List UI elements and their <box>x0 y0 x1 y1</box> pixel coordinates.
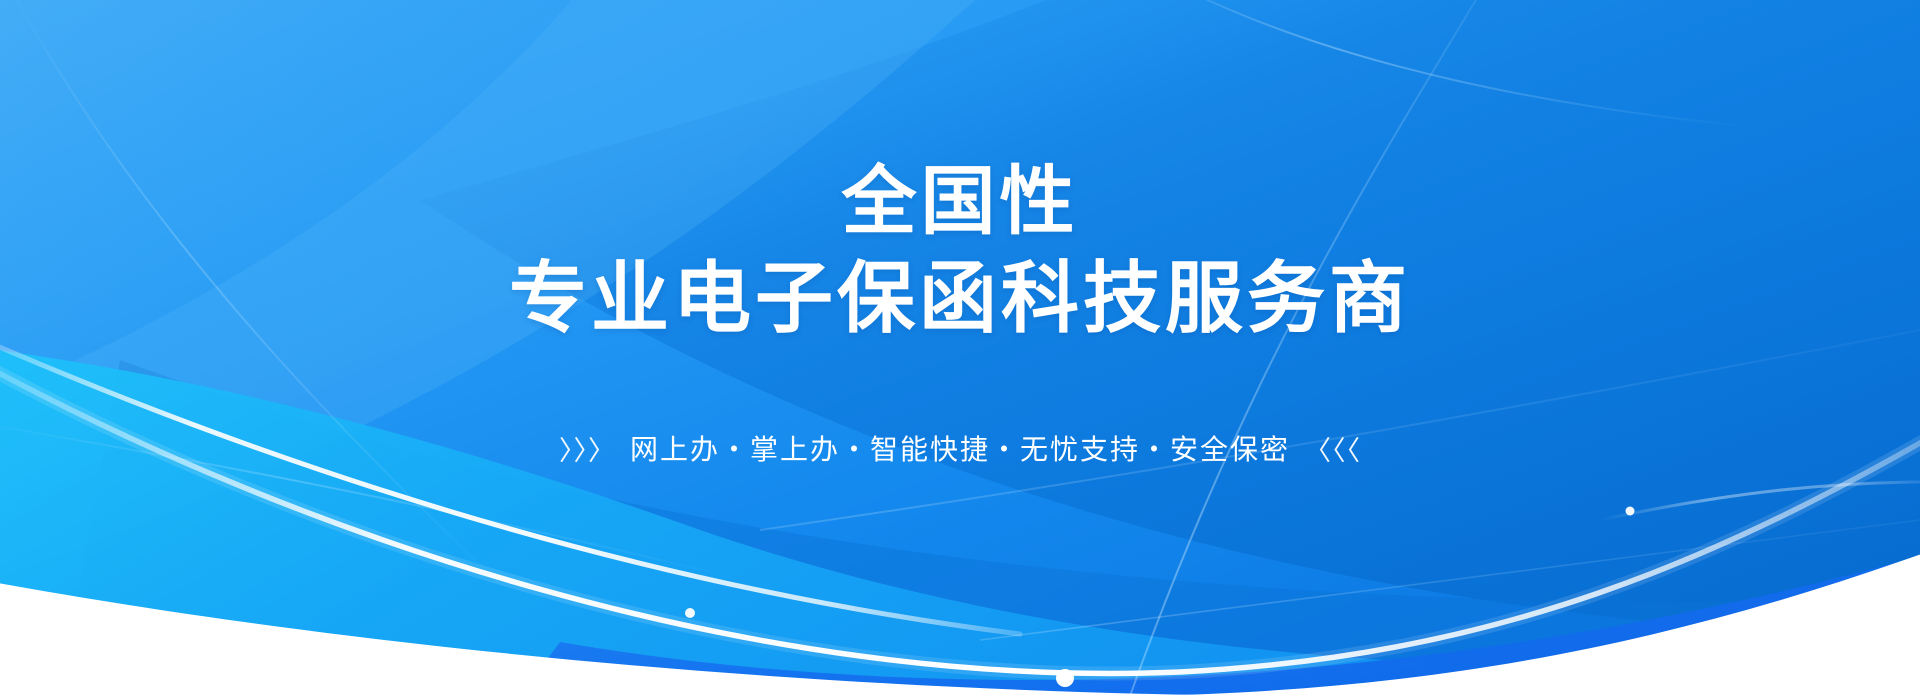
node-dot-center <box>1056 669 1074 687</box>
node-dot-left <box>685 608 695 618</box>
node-dot-upper-right <box>1626 507 1635 516</box>
banner-background-art <box>0 0 1920 696</box>
promo-banner: 全国性 专业电子保函科技服务商 〉〉〉 网上办・掌上办・智能快捷・无忧支持・安全… <box>0 0 1920 696</box>
node-dot-lower-right <box>1622 644 1635 657</box>
